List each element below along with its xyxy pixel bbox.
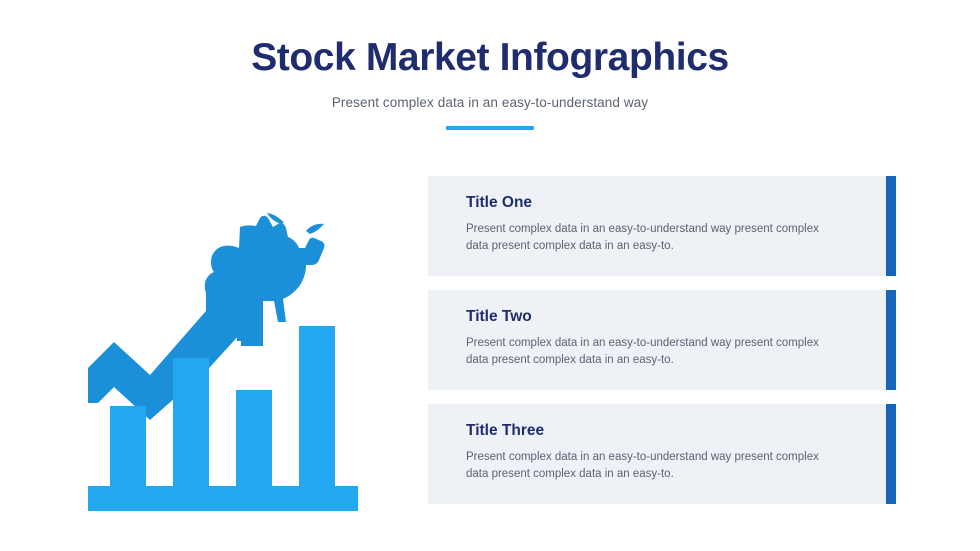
card-one[interactable]: Title One Present complex data in an eas… <box>428 176 886 276</box>
card-title: Title One <box>466 194 852 212</box>
card-two[interactable]: Title Two Present complex data in an eas… <box>428 290 886 390</box>
slide-root: Stock Market Infographics Present comple… <box>0 0 980 551</box>
card-body: Present complex data in an easy-to-under… <box>466 221 838 254</box>
card-accent-bar <box>886 290 896 390</box>
card-title: Title Two <box>466 308 852 326</box>
chart-bar-4 <box>299 326 335 496</box>
card-title: Title Three <box>466 422 852 440</box>
card-body: Present complex data in an easy-to-under… <box>466 449 838 482</box>
page-title: Stock Market Infographics <box>0 38 980 79</box>
card-body: Present complex data in an easy-to-under… <box>466 335 838 368</box>
card-accent-bar <box>886 404 896 504</box>
cards-list: Title One Present complex data in an eas… <box>428 176 886 504</box>
chart-bar-1 <box>110 406 146 496</box>
accent-divider <box>446 126 534 130</box>
card-three[interactable]: Title Three Present complex data in an e… <box>428 404 886 504</box>
page-subtitle: Present complex data in an easy-to-under… <box>0 95 980 110</box>
chart-baseline <box>88 486 358 511</box>
slide-header: Stock Market Infographics Present comple… <box>0 38 980 130</box>
chart-bar-2 <box>173 358 209 496</box>
chart-bar-3 <box>236 390 272 496</box>
bull-market-illustration <box>88 168 388 513</box>
card-accent-bar <box>886 176 896 276</box>
